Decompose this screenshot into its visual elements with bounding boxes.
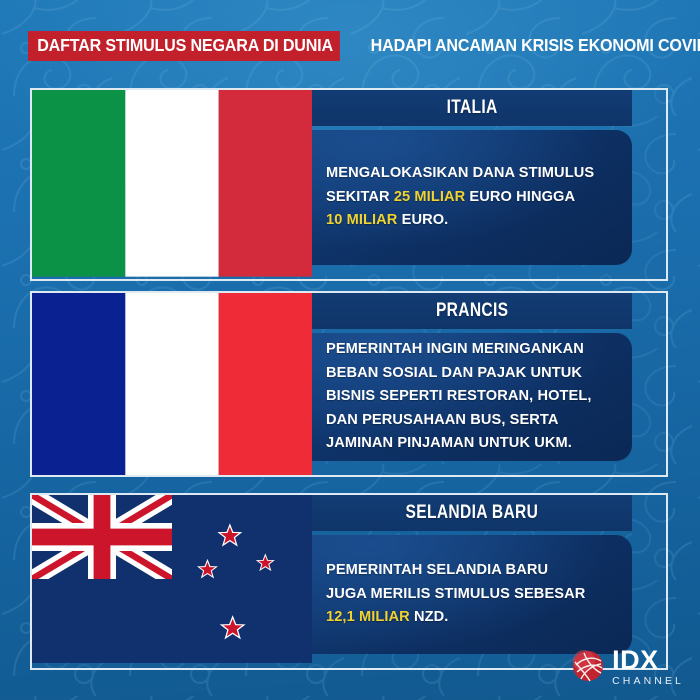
country-body: PEMERINTAH SELANDIA BARUJUGA MERILIS STI… xyxy=(312,535,632,654)
idx-name: IDX xyxy=(612,647,684,674)
country-card-italia[interactable]: ITALIA MENGALOKASIKAN DANA STIMULUSSEKIT… xyxy=(30,88,668,281)
country-title-bar: ITALIA xyxy=(312,90,632,126)
country-title: ITALIA xyxy=(446,97,497,119)
idx-wordmark: IDX CHANNEL xyxy=(612,647,684,687)
country-description: PEMERINTAH INGIN MERINGANKANBEBAN SOSIAL… xyxy=(312,338,606,456)
infographic-root: DAFTAR STIMULUS NEGARA DI DUNIA HADAPI A… xyxy=(0,0,700,700)
headline: DAFTAR STIMULUS NEGARA DI DUNIA HADAPI A… xyxy=(0,29,700,63)
country-title: PRANCIS xyxy=(436,300,508,322)
country-body: PEMERINTAH INGIN MERINGANKANBEBAN SOSIAL… xyxy=(312,333,632,461)
headline-highlight: DAFTAR STIMULUS NEGARA DI DUNIA xyxy=(28,31,340,62)
country-title-bar: SELANDIA BARU xyxy=(312,495,632,531)
country-body: MENGALOKASIKAN DANA STIMULUSSEKITAR 25 M… xyxy=(312,130,632,265)
flag-container xyxy=(32,495,312,668)
new-zealand-flag xyxy=(32,495,312,663)
text-panel: SELANDIA BARU PEMERINTAH SELANDIA BARUJU… xyxy=(312,495,666,668)
country-description: PEMERINTAH SELANDIA BARUJUGA MERILIS STI… xyxy=(312,559,599,630)
italy-flag xyxy=(32,90,312,277)
flag-container xyxy=(32,293,312,475)
idx-subtitle: CHANNEL xyxy=(612,676,684,687)
flag-container xyxy=(32,90,312,279)
headline-rest: HADAPI ANCAMAN KRISIS EKONOMI COVID-19 xyxy=(367,37,700,55)
country-title: SELANDIA BARU xyxy=(406,502,539,524)
country-title-bar: PRANCIS xyxy=(312,293,632,329)
idx-sphere-icon xyxy=(571,649,605,683)
text-panel: ITALIA MENGALOKASIKAN DANA STIMULUSSEKIT… xyxy=(312,90,666,279)
country-card-prancis[interactable]: PRANCIS PEMERINTAH INGIN MERINGANKANBEBA… xyxy=(30,291,668,477)
country-description: MENGALOKASIKAN DANA STIMULUSSEKITAR 25 M… xyxy=(312,162,608,233)
idx-channel-logo: IDX CHANNEL xyxy=(571,647,684,687)
text-panel: PRANCIS PEMERINTAH INGIN MERINGANKANBEBA… xyxy=(312,293,666,475)
country-card-selandia-baru[interactable]: SELANDIA BARU PEMERINTAH SELANDIA BARUJU… xyxy=(30,493,668,670)
france-flag xyxy=(32,293,312,475)
